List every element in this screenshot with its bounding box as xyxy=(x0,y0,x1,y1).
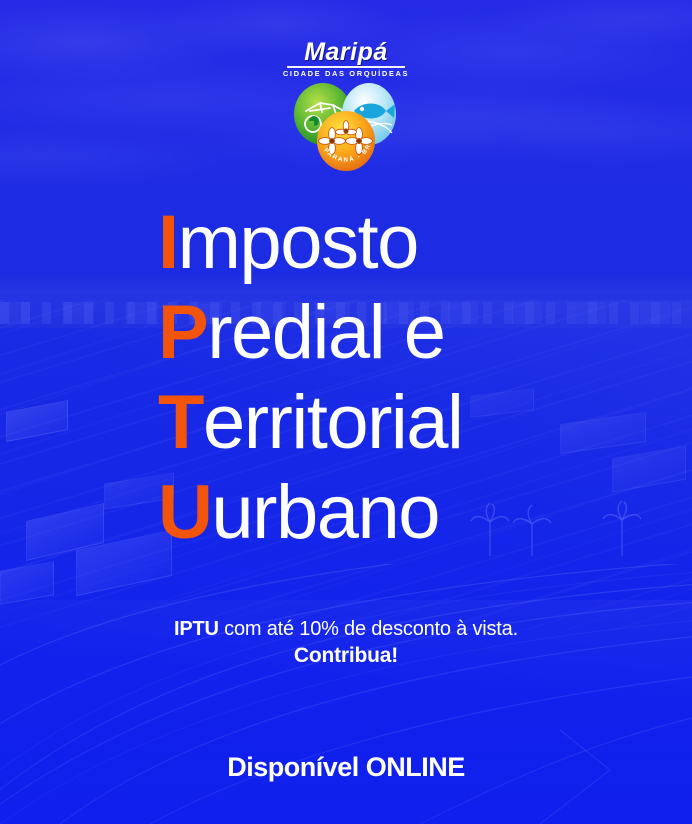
logo-underline xyxy=(287,66,405,68)
maripa-logo: Maripá CIDADE DAS ORQUÍDEAS xyxy=(266,40,426,185)
poster: Maripá CIDADE DAS ORQUÍDEAS xyxy=(0,0,692,824)
headline-line-2: Predial e xyxy=(158,296,692,370)
headline-rest-4: urbano xyxy=(211,470,439,555)
headline-rest-3: erritorial xyxy=(203,380,463,465)
headline-line-1: Imposto xyxy=(158,206,692,280)
subtitle-rest: com até 10% de desconto à vista. xyxy=(219,618,518,640)
headline-line-4: Uurbano xyxy=(158,476,692,550)
headline-line-3: Territorial xyxy=(158,386,692,460)
headline-rest-2: redial e xyxy=(207,290,444,375)
headline-initial-p: P xyxy=(158,290,207,375)
headline-rest-1: mposto xyxy=(178,200,418,285)
logo-wordmark: Maripá xyxy=(266,40,426,65)
subtitle-block: IPTU com até 10% de desconto à vista. Co… xyxy=(0,617,692,668)
headline-initial-i: I xyxy=(158,200,178,285)
poster-content: Maripá CIDADE DAS ORQUÍDEAS xyxy=(0,0,692,824)
logo-tagline: CIDADE DAS ORQUÍDEAS xyxy=(266,70,426,78)
headline-iptu-acrostic: Imposto Predial e Territorial Uurbano xyxy=(0,206,692,550)
subtitle-strong-iptu: IPTU xyxy=(174,618,219,640)
headline-initial-t: T xyxy=(158,380,203,465)
discount-text: IPTU com até 10% de desconto à vista. xyxy=(0,617,692,643)
call-to-action: Contribua! xyxy=(0,644,692,668)
logo-emblems: PARANÁ - BRASIL xyxy=(286,81,406,173)
headline-initial-u: U xyxy=(158,470,211,555)
availability-label: Disponível ONLINE xyxy=(0,752,692,783)
